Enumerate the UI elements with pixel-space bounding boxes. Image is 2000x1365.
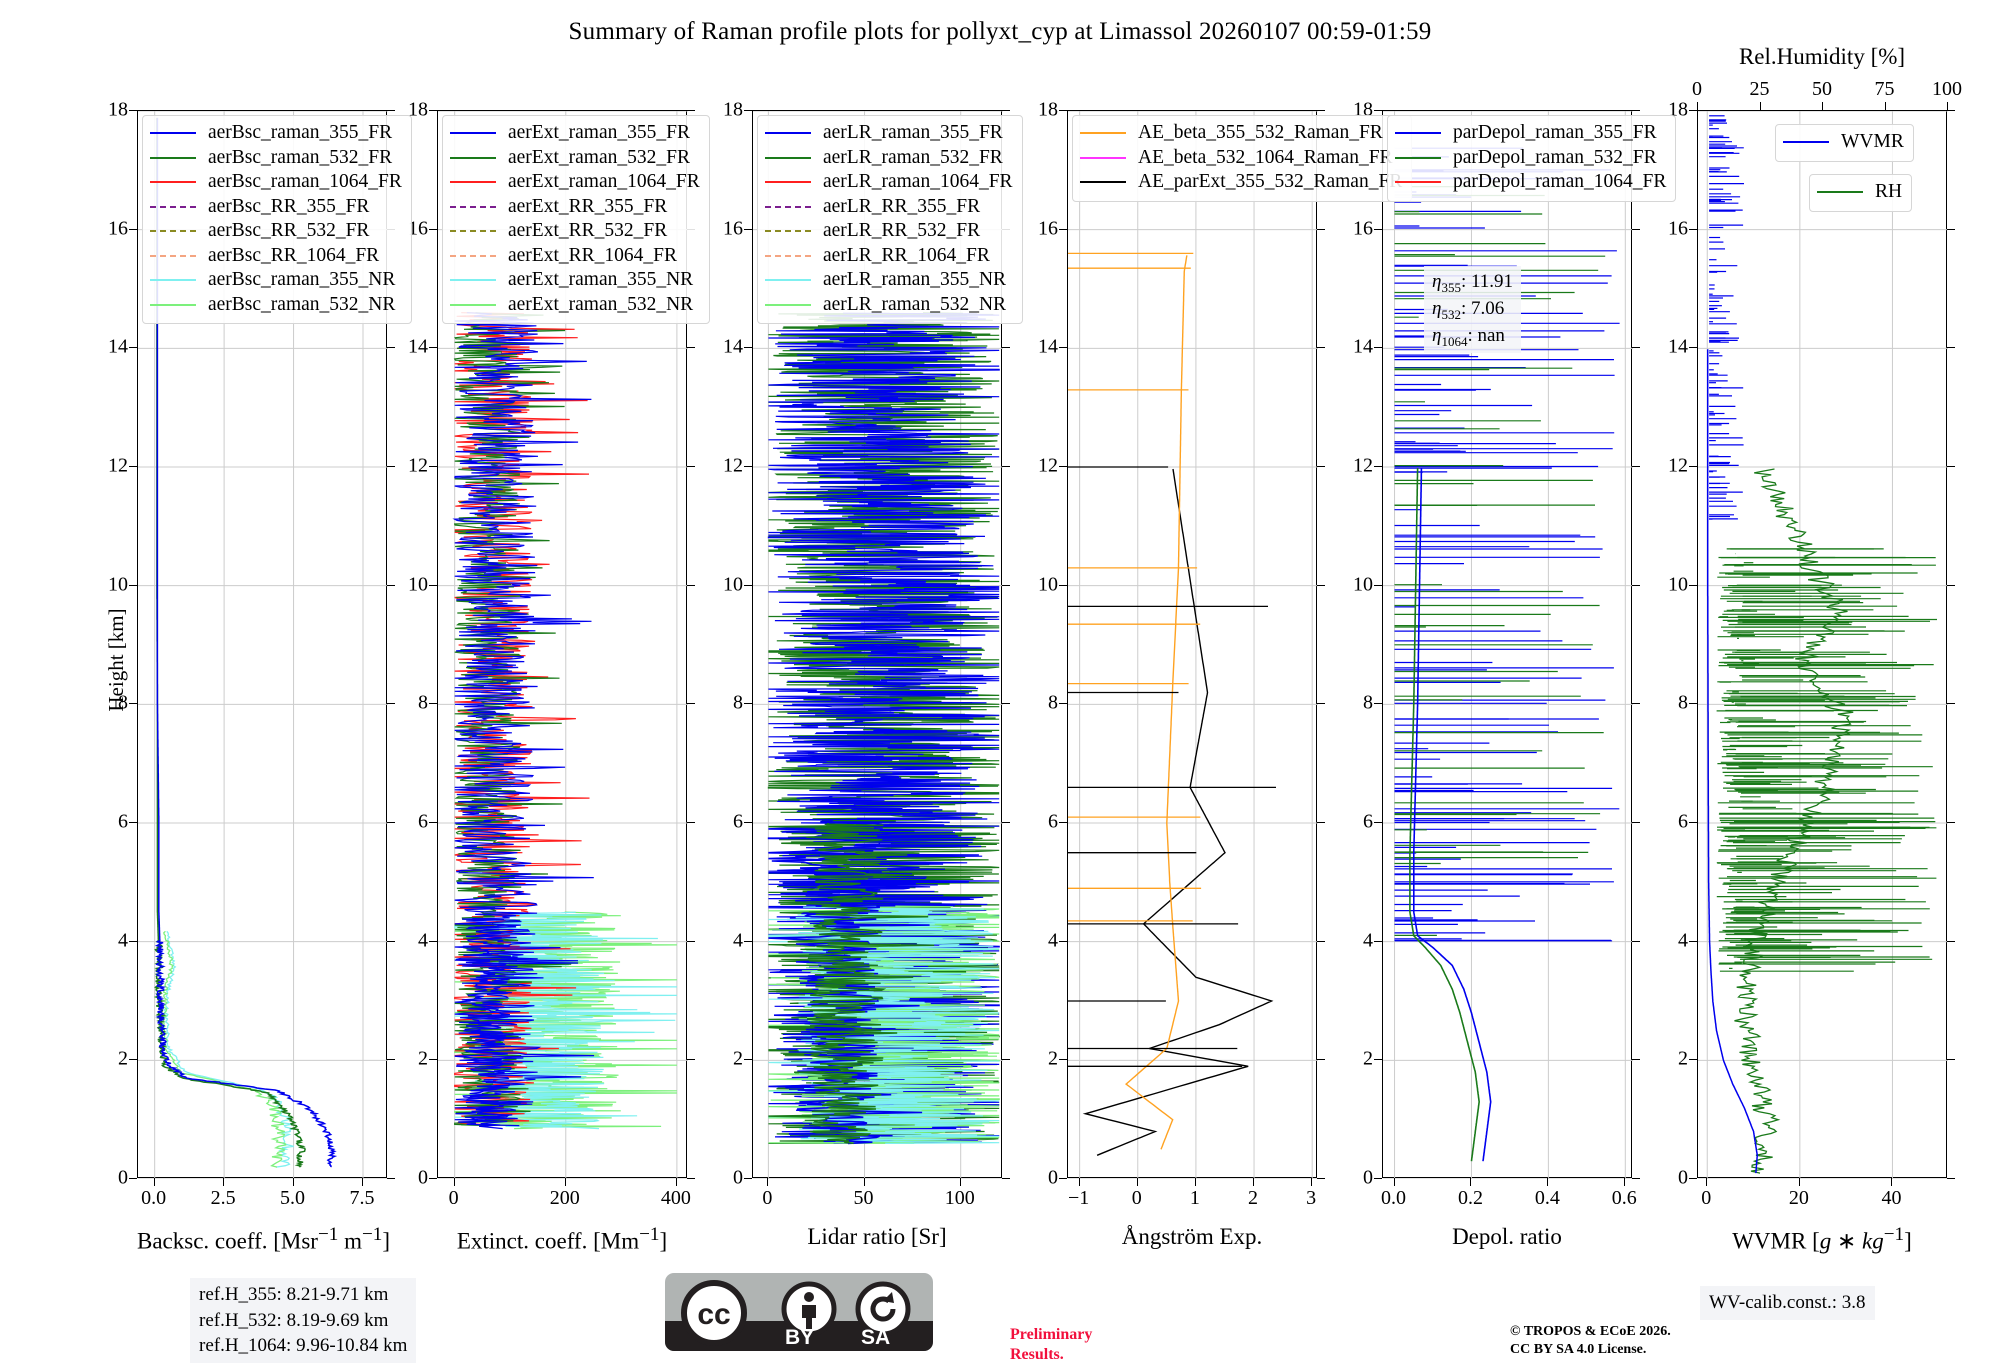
y-tick-label: 14 — [408, 336, 428, 359]
x-tick-mark — [864, 1178, 865, 1186]
y-tick-mark — [1689, 585, 1697, 586]
y-tick-mark — [1374, 466, 1382, 467]
y-tick-mark-right — [387, 1059, 395, 1060]
legend-label: aerLR_raman_532_NR — [823, 294, 1006, 316]
legend-swatch-magenta — [1080, 157, 1126, 159]
legend-row[interactable]: aerExt_RR_532_FR — [450, 219, 700, 244]
y-tick-mark-right — [1632, 1178, 1640, 1179]
top-tick-mark — [1822, 102, 1823, 110]
legend-row[interactable]: aerExt_RR_355_FR — [450, 195, 700, 220]
legend-label: aerExt_RR_1064_FR — [508, 245, 677, 267]
y-tick-mark — [1689, 229, 1697, 230]
top-tick-mark — [1885, 102, 1886, 110]
top-tick-label: 100 — [1932, 78, 1962, 101]
top-tick-label: 75 — [1875, 78, 1895, 101]
x-tick-mark — [293, 1178, 294, 1186]
x-tick-label: 2.5 — [211, 1187, 236, 1210]
legend-swatch-blue — [1395, 132, 1441, 134]
legend-row[interactable]: parDepol_raman_532_FR — [1395, 146, 1666, 171]
x-tick-mark — [1624, 1178, 1625, 1186]
top-axis-label-rh: Rel.Humidity [%] — [1697, 44, 1947, 70]
y-tick-mark-right — [1632, 1059, 1640, 1060]
y-tick-mark-right — [1317, 703, 1325, 704]
legend-label: aerExt_raman_355_NR — [508, 269, 693, 291]
y-tick-label: 10 — [1353, 573, 1373, 596]
legend-row[interactable]: aerExt_raman_532_FR — [450, 146, 700, 171]
top-tick-label: 50 — [1812, 78, 1832, 101]
y-tick-mark-right — [1002, 1178, 1010, 1179]
legend-label: aerBsc_RR_532_FR — [208, 220, 369, 242]
y-tick-mark — [129, 941, 137, 942]
legend-row[interactable]: aerExt_RR_1064_FR — [450, 244, 700, 269]
y-tick-label: 16 — [1668, 217, 1688, 240]
y-tick-mark-right — [1317, 822, 1325, 823]
ref-height-footnote: ref.H_355: 8.21-9.71 kmref.H_532: 8.19-9… — [190, 1278, 416, 1363]
legend-swatch-red — [450, 181, 496, 183]
y-tick-label: 4 — [118, 929, 128, 952]
legend-swatch-green — [1395, 157, 1441, 159]
legend-label: aerLR_raman_355_NR — [823, 269, 1006, 291]
legend-row[interactable]: AE_parExt_355_532_Raman_FR — [1080, 170, 1402, 195]
y-tick-mark-right — [1317, 585, 1325, 586]
ref-height-line: ref.H_532: 8.19-9.69 km — [199, 1308, 407, 1334]
y-tick-mark — [1374, 822, 1382, 823]
y-tick-mark — [129, 822, 137, 823]
y-tick-mark-right — [687, 941, 695, 942]
y-tick-mark — [1689, 347, 1697, 348]
y-tick-mark-right — [1002, 110, 1010, 111]
y-tick-label: 10 — [1038, 573, 1058, 596]
legend-row[interactable]: AE_beta_355_532_Raman_FR — [1080, 121, 1402, 146]
y-tick-label: 18 — [108, 99, 128, 122]
legend-depolarization[interactable]: parDepol_raman_355_FRparDepol_raman_532_… — [1387, 115, 1676, 202]
page-title: Summary of Raman profile plots for polly… — [0, 18, 2000, 46]
y-tick-label: 18 — [723, 99, 743, 122]
y-tick-mark-right — [687, 1059, 695, 1060]
legend-row[interactable]: aerLR_RR_1064_FR — [765, 244, 1013, 269]
copyright-line: CC BY SA 4.0 License. — [1510, 1341, 1671, 1359]
legend-label: aerExt_raman_1064_FR — [508, 171, 700, 193]
legend-row[interactable]: aerBsc_RR_532_FR — [150, 219, 402, 244]
x-tick-mark — [1195, 1178, 1196, 1186]
y-tick-label: 0 — [733, 1167, 743, 1190]
legend-swatch-salmon — [765, 255, 811, 257]
legend-label: AE_beta_355_532_Raman_FR — [1138, 122, 1383, 144]
y-tick-mark-right — [1632, 822, 1640, 823]
y-tick-mark-right — [1317, 229, 1325, 230]
legend-label: aerBsc_raman_532_FR — [208, 147, 392, 169]
legend-label: aerBsc_raman_355_FR — [208, 122, 392, 144]
x-tick-mark — [1079, 1178, 1080, 1186]
y-tick-mark-right — [1002, 347, 1010, 348]
legend-swatch-blue — [1783, 141, 1829, 143]
y-tick-mark — [1689, 1059, 1697, 1060]
legend-swatch-blue — [450, 132, 496, 134]
legend-label: aerLR_RR_532_FR — [823, 220, 980, 242]
legend-label: aerBsc_raman_355_NR — [208, 269, 395, 291]
top-tick-label: 0 — [1692, 78, 1702, 101]
y-tick-mark — [744, 822, 752, 823]
y-tick-label: 0 — [1363, 1167, 1373, 1190]
panel-depolarization: 0246810121416180.00.20.40.6Depol. ratiop… — [1382, 110, 1632, 1210]
y-tick-mark — [744, 466, 752, 467]
y-tick-mark-right — [1632, 229, 1640, 230]
legend-swatch-green — [1817, 191, 1863, 193]
y-tick-mark — [1059, 703, 1067, 704]
legend-row[interactable]: aerLR_RR_532_FR — [765, 219, 1013, 244]
y-tick-mark — [1374, 1059, 1382, 1060]
plot-area-angstrom — [1067, 110, 1317, 1178]
y-tick-label: 16 — [1038, 217, 1058, 240]
x-tick-label: 7.5 — [350, 1187, 375, 1210]
y-tick-label: 12 — [1038, 455, 1058, 478]
legend-row[interactable]: aerBsc_raman_1064_FR — [150, 170, 402, 195]
y-tick-label: 14 — [1668, 336, 1688, 359]
x-tick-mark — [1311, 1178, 1312, 1186]
y-tick-mark — [129, 347, 137, 348]
y-tick-mark-right — [387, 466, 395, 467]
legend-row[interactable]: aerExt_raman_355_NR — [450, 268, 700, 293]
y-tick-mark — [429, 466, 437, 467]
legend-rh[interactable]: RH — [1809, 174, 1912, 212]
legend-row[interactable]: aerBsc_RR_355_FR — [150, 195, 402, 220]
x-tick-mark — [154, 1178, 155, 1186]
y-tick-mark — [1689, 822, 1697, 823]
y-tick-label: 10 — [723, 573, 743, 596]
y-tick-label: 2 — [1048, 1048, 1058, 1071]
y-tick-label: 4 — [418, 929, 428, 952]
legend-label: RH — [1875, 181, 1902, 203]
legend-swatch-purple — [450, 206, 496, 208]
legend-label: aerExt_raman_355_FR — [508, 122, 690, 144]
y-tick-mark-right — [387, 347, 395, 348]
panel-backscatter: 0246810121416180.02.55.07.5Backsc. coeff… — [137, 110, 387, 1210]
y-tick-label: 8 — [733, 692, 743, 715]
y-tick-label: 0 — [118, 1167, 128, 1190]
svg-text:cc: cc — [697, 1298, 730, 1331]
legend-extinction[interactable]: aerExt_raman_355_FRaerExt_raman_532_FRae… — [442, 115, 710, 324]
y-tick-mark — [1689, 941, 1697, 942]
y-tick-mark — [129, 1178, 137, 1179]
legend-swatch-lightgreen — [150, 304, 196, 306]
y-tick-mark-right — [687, 110, 695, 111]
y-tick-label: 6 — [733, 811, 743, 834]
legend-label: aerExt_raman_532_NR — [508, 294, 693, 316]
y-tick-mark — [1689, 466, 1697, 467]
top-tick-mark — [1760, 102, 1761, 110]
y-tick-mark-right — [387, 941, 395, 942]
legend-swatch-cyan — [450, 279, 496, 281]
x-tick-mark — [565, 1178, 566, 1186]
legend-swatch-purple — [150, 206, 196, 208]
y-tick-mark-right — [1002, 941, 1010, 942]
cc-by-label: BY — [785, 1326, 814, 1350]
curves-angstrom — [1068, 111, 1318, 1179]
x-tick-label: 0 — [449, 1187, 459, 1210]
y-tick-mark-right — [1002, 585, 1010, 586]
y-tick-label: 8 — [418, 692, 428, 715]
legend-row[interactable]: aerLR_raman_355_FR — [765, 121, 1013, 146]
x-tick-mark — [362, 1178, 363, 1186]
y-tick-label: 14 — [1038, 336, 1058, 359]
x-tick-mark — [1547, 1178, 1548, 1186]
y-tick-mark-right — [1947, 1059, 1955, 1060]
y-tick-mark-right — [1632, 941, 1640, 942]
legend-row[interactable]: aerBsc_raman_532_FR — [150, 146, 402, 171]
y-tick-mark-right — [1947, 941, 1955, 942]
y-tick-label: 4 — [733, 929, 743, 952]
y-tick-mark-right — [687, 585, 695, 586]
preliminary-line: Preliminary — [1010, 1325, 1092, 1345]
y-tick-mark — [1689, 110, 1697, 111]
x-tick-label: 0 — [1701, 1187, 1711, 1210]
x-axis-label-backscatter: Backsc. coeff. [Msr−1 m−1] — [137, 1224, 387, 1255]
cc-sa-label: SA — [861, 1326, 890, 1350]
y-tick-mark-right — [1947, 1178, 1955, 1179]
x-tick-label: 0.0 — [141, 1187, 166, 1210]
y-tick-mark — [429, 229, 437, 230]
cc-by-sa-badge: cc BY SA — [665, 1273, 933, 1351]
x-axis-label-depolarization: Depol. ratio — [1382, 1224, 1632, 1250]
y-tick-label: 2 — [1363, 1048, 1373, 1071]
legend-angstrom[interactable]: AE_beta_355_532_Raman_FRAE_beta_532_1064… — [1072, 115, 1412, 202]
ref-height-line: ref.H_355: 8.21-9.71 km — [199, 1282, 407, 1308]
y-tick-mark — [1059, 229, 1067, 230]
y-tick-mark — [129, 466, 137, 467]
y-tick-label: 10 — [408, 573, 428, 596]
legend-swatch-cyan — [150, 279, 196, 281]
y-tick-label: 8 — [1678, 692, 1688, 715]
preliminary-results-note: PreliminaryResults. — [1010, 1325, 1092, 1365]
legend-swatch-green — [150, 157, 196, 159]
y-tick-mark — [129, 703, 137, 704]
y-tick-mark-right — [1947, 110, 1955, 111]
y-tick-mark-right — [1317, 1178, 1325, 1179]
y-axis-label: Height [km] — [104, 608, 129, 711]
x-tick-label: 0.2 — [1458, 1187, 1483, 1210]
x-tick-mark — [960, 1178, 961, 1186]
y-tick-mark-right — [1317, 110, 1325, 111]
y-tick-mark — [744, 585, 752, 586]
cc-circle-icon: cc — [681, 1280, 747, 1346]
x-tick-mark — [223, 1178, 224, 1186]
y-tick-mark-right — [387, 585, 395, 586]
legend-row[interactable]: aerExt_raman_532_NR — [450, 293, 700, 318]
legend-row[interactable]: parDepol_raman_355_FR — [1395, 121, 1666, 146]
legend-row[interactable]: parDepol_raman_1064_FR — [1395, 170, 1666, 195]
legend-swatch-red — [150, 181, 196, 183]
y-tick-label: 10 — [1668, 573, 1688, 596]
x-tick-mark — [1706, 1178, 1707, 1186]
y-tick-mark-right — [1002, 1059, 1010, 1060]
y-tick-mark-right — [1632, 347, 1640, 348]
y-tick-mark-right — [1317, 1059, 1325, 1060]
legend-row[interactable]: aerBsc_RR_1064_FR — [150, 244, 402, 269]
legend-row[interactable]: aerLR_raman_532_NR — [765, 293, 1013, 318]
x-tick-label: 2 — [1248, 1187, 1258, 1210]
x-axis-label-angstrom: Ångström Exp. — [1067, 1224, 1317, 1250]
y-tick-label: 2 — [1678, 1048, 1688, 1071]
legend-label: aerBsc_RR_1064_FR — [208, 245, 379, 267]
y-tick-mark — [429, 703, 437, 704]
legend-row[interactable]: aerLR_raman_532_FR — [765, 146, 1013, 171]
legend-row[interactable]: aerLR_raman_355_NR — [765, 268, 1013, 293]
y-tick-mark-right — [1947, 229, 1955, 230]
x-tick-label: −1 — [1068, 1187, 1089, 1210]
y-tick-mark-right — [1632, 466, 1640, 467]
legend-label: aerBsc_RR_355_FR — [208, 196, 369, 218]
y-tick-mark-right — [1947, 585, 1955, 586]
x-tick-mark — [767, 1178, 768, 1186]
legend-swatch-lightgreen — [765, 304, 811, 306]
eta-line: η355: 11.91 — [1432, 269, 1513, 296]
y-tick-mark-right — [387, 110, 395, 111]
legend-label: aerExt_RR_532_FR — [508, 220, 667, 242]
x-axis-label-extinction: Extinct. coeff. [Mm−1] — [437, 1224, 687, 1255]
legend-swatch-olive — [765, 230, 811, 232]
legend-row[interactable]: aerExt_raman_1064_FR — [450, 170, 700, 195]
legend-swatch-olive — [450, 230, 496, 232]
y-tick-mark — [1374, 347, 1382, 348]
legend-row[interactable]: aerExt_raman_355_FR — [450, 121, 700, 146]
y-tick-mark — [429, 1059, 437, 1060]
eta-line: η1064: nan — [1432, 323, 1513, 350]
y-tick-mark-right — [1002, 466, 1010, 467]
y-tick-mark-right — [687, 703, 695, 704]
legend-label: AE_parExt_355_532_Raman_FR — [1138, 171, 1402, 193]
y-tick-label: 2 — [418, 1048, 428, 1071]
x-tick-mark — [1137, 1178, 1138, 1186]
y-tick-mark — [1374, 585, 1382, 586]
y-tick-mark — [1059, 347, 1067, 348]
panel-lidar-ratio: 024681012141618050100Lidar ratio [Sr]aer… — [752, 110, 1002, 1210]
x-tick-mark — [676, 1178, 677, 1186]
top-tick-mark — [1947, 102, 1948, 110]
y-tick-mark-right — [687, 822, 695, 823]
y-tick-mark — [744, 229, 752, 230]
legend-swatch-blue — [150, 132, 196, 134]
legend-label: aerLR_RR_355_FR — [823, 196, 980, 218]
y-tick-label: 0 — [1678, 1167, 1688, 1190]
legend-row[interactable]: aerLR_RR_355_FR — [765, 195, 1013, 220]
panel-wvmr-rh: 02468101214161802040WVMR [g ∗ kg−1]Rel.H… — [1697, 110, 1947, 1210]
x-tick-mark — [454, 1178, 455, 1186]
y-tick-mark — [1059, 585, 1067, 586]
x-tick-label: 50 — [854, 1187, 874, 1210]
plot-area-wvmr-rh — [1697, 110, 1947, 1178]
y-tick-mark-right — [687, 466, 695, 467]
legend-row[interactable]: aerBsc_raman_355_FR — [150, 121, 402, 146]
y-tick-label: 8 — [1363, 692, 1373, 715]
y-tick-mark — [1374, 110, 1382, 111]
y-tick-mark — [1689, 1178, 1697, 1179]
copyright-line: © TROPOS & ECoE 2026. — [1510, 1323, 1671, 1341]
y-tick-label: 12 — [723, 455, 743, 478]
y-tick-label: 6 — [1048, 811, 1058, 834]
y-tick-mark — [1374, 229, 1382, 230]
y-tick-mark — [744, 347, 752, 348]
legend-swatch-purple — [765, 206, 811, 208]
x-tick-label: 0 — [762, 1187, 772, 1210]
legend-label: AE_beta_532_1064_Raman_FR — [1138, 147, 1393, 169]
legend-row[interactable]: RH — [1817, 180, 1902, 205]
legend-label: aerLR_raman_1064_FR — [823, 171, 1013, 193]
legend-label: aerExt_RR_355_FR — [508, 196, 667, 218]
legend-row[interactable]: aerBsc_raman_532_NR — [150, 293, 402, 318]
top-tick-label: 25 — [1750, 78, 1770, 101]
legend-row[interactable]: WVMR — [1783, 130, 1904, 155]
y-tick-mark — [429, 822, 437, 823]
y-tick-mark — [1059, 1178, 1067, 1179]
legend-row[interactable]: aerBsc_raman_355_NR — [150, 268, 402, 293]
wv-calib-footnote: WV-calib.const.: 3.8 — [1700, 1286, 1875, 1320]
y-tick-label: 12 — [108, 455, 128, 478]
y-tick-label: 10 — [108, 573, 128, 596]
y-tick-mark-right — [1947, 347, 1955, 348]
curves-wvmr-rh — [1698, 111, 1948, 1179]
y-tick-label: 6 — [118, 811, 128, 834]
legend-lidar-ratio[interactable]: aerLR_raman_355_FRaerLR_raman_532_FRaerL… — [757, 115, 1023, 324]
legend-label: parDepol_raman_355_FR — [1453, 122, 1657, 144]
legend-label: aerLR_raman_532_FR — [823, 147, 1003, 169]
legend-label: aerBsc_raman_532_NR — [208, 294, 395, 316]
y-tick-label: 0 — [418, 1167, 428, 1190]
y-tick-mark-right — [387, 1178, 395, 1179]
y-tick-mark-right — [387, 822, 395, 823]
x-tick-mark — [1394, 1178, 1395, 1186]
y-tick-label: 16 — [1353, 217, 1373, 240]
x-tick-mark — [1799, 1178, 1800, 1186]
legend-swatch-green — [450, 157, 496, 159]
x-tick-label: 100 — [945, 1187, 975, 1210]
x-tick-label: 5.0 — [280, 1187, 305, 1210]
y-tick-mark — [1689, 703, 1697, 704]
copyright-note: © TROPOS & ECoE 2026.CC BY SA 4.0 Licens… — [1510, 1323, 1671, 1359]
y-tick-mark — [1059, 1059, 1067, 1060]
y-tick-label: 16 — [108, 217, 128, 240]
legend-label: aerBsc_raman_1064_FR — [208, 171, 402, 193]
y-tick-mark-right — [1317, 347, 1325, 348]
y-tick-mark-right — [687, 1178, 695, 1179]
x-tick-label: 0.4 — [1535, 1187, 1560, 1210]
x-tick-mark — [1253, 1178, 1254, 1186]
y-tick-mark-right — [387, 703, 395, 704]
y-tick-label: 8 — [1048, 692, 1058, 715]
legend-row[interactable]: aerLR_raman_1064_FR — [765, 170, 1013, 195]
legend-label: aerLR_raman_355_FR — [823, 122, 1003, 144]
preliminary-line: Results. — [1010, 1345, 1092, 1365]
y-tick-mark-right — [1317, 941, 1325, 942]
legend-label: aerLR_RR_1064_FR — [823, 245, 990, 267]
legend-backscatter[interactable]: aerBsc_raman_355_FRaerBsc_raman_532_FRae… — [142, 115, 412, 324]
y-tick-label: 2 — [733, 1048, 743, 1071]
y-tick-label: 4 — [1363, 929, 1373, 952]
legend-wvmr-rh[interactable]: WVMR — [1775, 124, 1914, 162]
y-tick-label: 14 — [1353, 336, 1373, 359]
x-tick-label: 0 — [1132, 1187, 1142, 1210]
legend-row[interactable]: AE_beta_532_1064_Raman_FR — [1080, 146, 1402, 171]
y-tick-mark — [129, 229, 137, 230]
y-tick-label: 18 — [1038, 99, 1058, 122]
legend-swatch-orange — [1080, 132, 1126, 134]
y-tick-mark — [429, 941, 437, 942]
y-tick-mark-right — [1632, 110, 1640, 111]
legend-swatch-salmon — [450, 255, 496, 257]
x-tick-mark — [1470, 1178, 1471, 1186]
y-tick-mark — [1374, 1178, 1382, 1179]
y-tick-mark — [744, 941, 752, 942]
y-tick-mark-right — [1317, 466, 1325, 467]
